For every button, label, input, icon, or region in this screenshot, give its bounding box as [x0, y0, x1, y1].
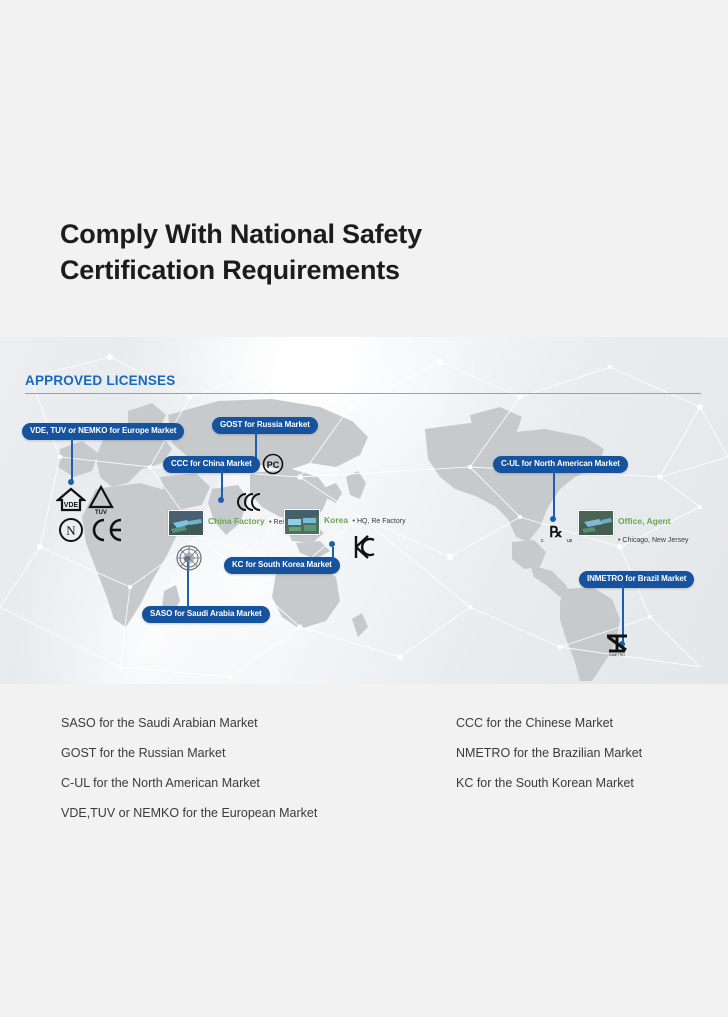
license-item: VDE,TUV or NEMKO for the European Market [61, 798, 317, 828]
china-factory-photo [168, 510, 204, 536]
nemko-mark-icon: N [58, 517, 84, 543]
cul-mark-icon: ℞ c us [538, 522, 574, 544]
callout-russia[interactable]: GOST for Russia Market [212, 417, 318, 434]
office-agent-photo [578, 510, 614, 536]
svg-text:us: us [567, 538, 573, 544]
saso-mark-icon [176, 545, 202, 571]
leader-line-south-korea [332, 547, 334, 561]
license-list-right: CCC for the Chinese Market NMETRO for th… [456, 708, 642, 798]
office-agent-sub: • Chicago, New Jersey [618, 537, 689, 544]
license-item: SASO for the Saudi Arabian Market [61, 708, 317, 738]
license-item: NMETRO for the Brazilian Market [456, 738, 642, 768]
svg-text:c: c [541, 538, 544, 544]
office-agent-name: Office, Agent [618, 516, 671, 526]
leader-line-europe [71, 437, 73, 481]
korea-name: Korea [324, 515, 348, 525]
callout-north-america[interactable]: C-UL for North American Market [493, 456, 628, 473]
svg-text:INMETRO: INMETRO [609, 653, 625, 657]
section-divider [25, 393, 701, 394]
svg-text:PC: PC [267, 460, 280, 470]
china-factory-name: China Factory [208, 516, 265, 526]
leader-line-north-america [553, 470, 555, 518]
page-title-line-2: Certification Requirements [60, 252, 660, 288]
world-map-panel: APPROVED LICENSES VDE, TUV or NEMKO for … [0, 337, 728, 684]
license-item: C-UL for the North American Market [61, 768, 317, 798]
svg-text:TUV: TUV [95, 510, 107, 515]
leader-line-china [221, 470, 223, 499]
leader-dot-china [218, 497, 224, 503]
leader-dot-south-korea [329, 541, 335, 547]
license-item: GOST for the Russian Market [61, 738, 317, 768]
page-title: Comply With National Safety Certificatio… [60, 216, 660, 288]
svg-text:VDE: VDE [64, 502, 79, 509]
callout-south-korea[interactable]: KC for South Korea Market [224, 557, 340, 574]
site-office-agent: Office, Agent • Chicago, New Jersey [578, 510, 728, 547]
page-title-line-1: Comply With National Safety [60, 216, 660, 252]
callout-saudi-arabia[interactable]: SASO for Saudi Arabia Market [142, 606, 270, 623]
svg-text:N: N [66, 523, 76, 538]
license-list-left: SASO for the Saudi Arabian Market GOST f… [61, 708, 317, 828]
license-item: KC for the South Korean Market [456, 768, 642, 798]
leader-dot-europe [68, 479, 74, 485]
callout-europe[interactable]: VDE, TUV or NEMKO for Europe Market [22, 423, 184, 440]
ce-mark-icon [90, 517, 124, 543]
callout-brazil[interactable]: INMETRO for Brazil Market [579, 571, 694, 588]
svg-text:℞: ℞ [549, 525, 562, 541]
vde-mark-icon: VDE [56, 487, 86, 513]
license-item: CCC for the Chinese Market [456, 708, 642, 738]
korea-photo [284, 509, 320, 535]
tuv-mark-icon: TUV [88, 485, 114, 515]
eac-pct-mark-icon: PC [262, 453, 284, 475]
inmetro-mark-icon: INMETRO [604, 633, 630, 657]
callout-china[interactable]: CCC for China Market [163, 456, 260, 473]
section-title: APPROVED LICENSES [25, 373, 175, 388]
korea-sub: • HQ, Re Factory [353, 518, 406, 525]
site-korea: Korea • HQ, Re Factory [284, 509, 406, 535]
kc-mark-icon [352, 533, 376, 561]
